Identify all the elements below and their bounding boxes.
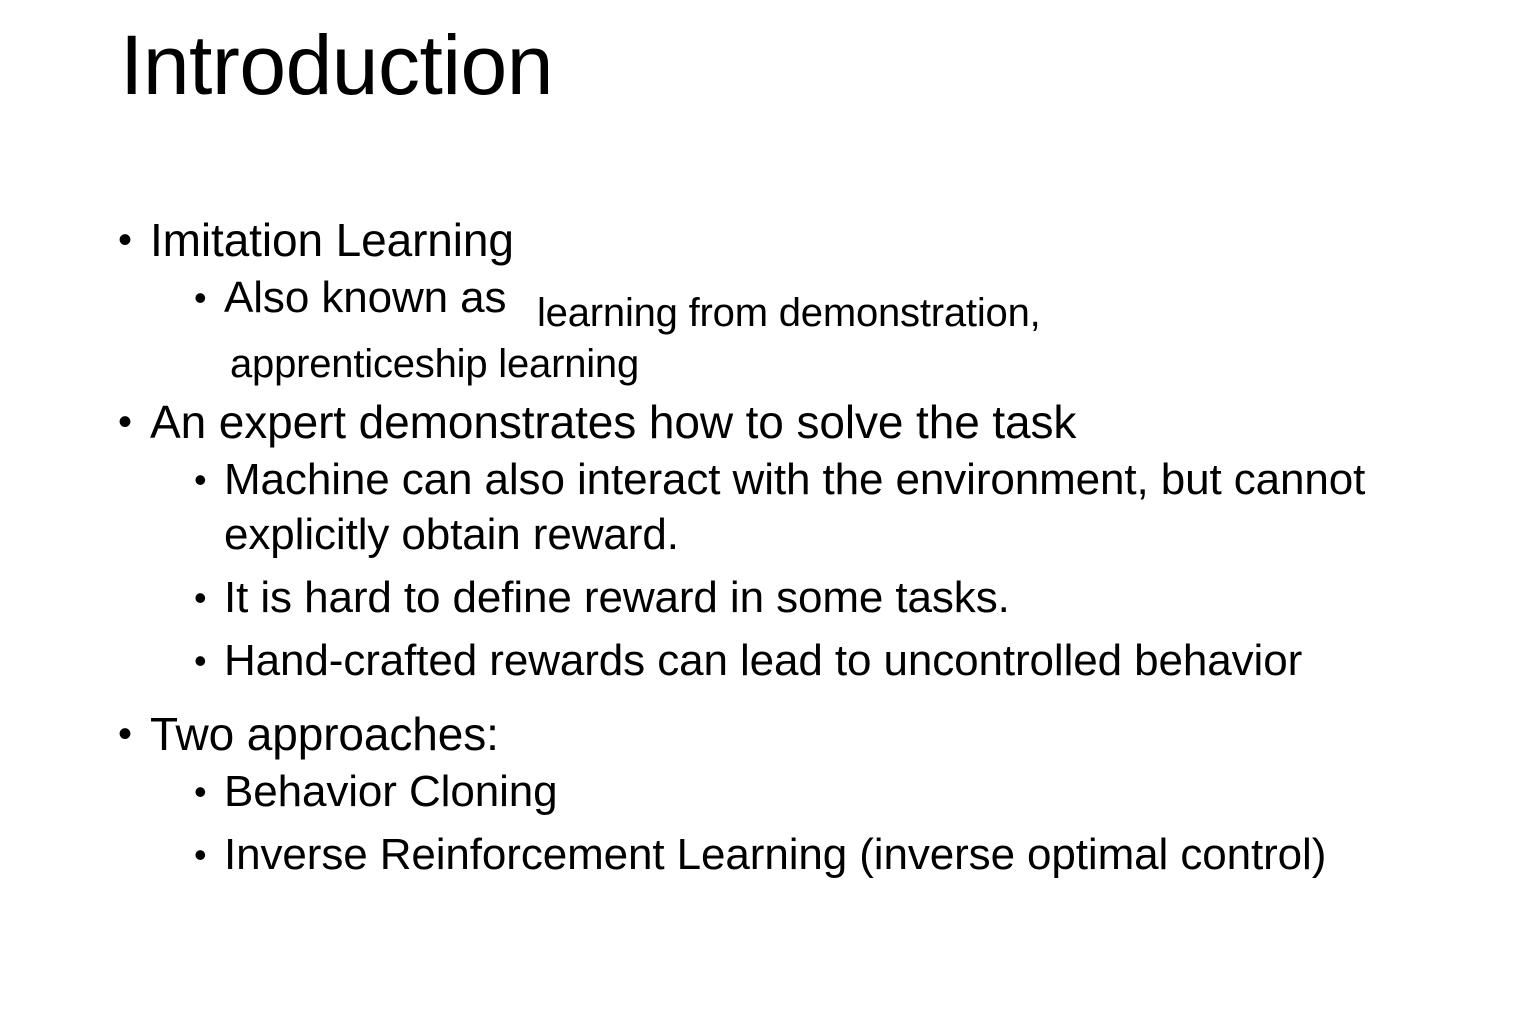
bullet-point-icon: • [118,212,150,268]
bullet-item-machine-interact: • Machine can also interact with the env… [194,452,1418,562]
bullet-label: Hand-crafted rewards can lead to uncontr… [224,633,1418,688]
spacer [118,819,1418,827]
bullet-item-hard-to-define-reward: • It is hard to define reward in some ta… [194,570,1418,625]
bullet-label: Machine can also interact with the envir… [224,452,1418,562]
bullet-item-inverse-reinforcement-learning: • Inverse Reinforcement Learning (invers… [194,827,1418,882]
bullet-item-behavior-cloning: • Behavior Cloning [194,764,1418,819]
overlay-line-2: apprenticeship learning [230,339,1177,390]
bullet-point-icon: • [194,452,224,507]
bullet-label: Imitation Learning [150,212,1418,268]
bullet-item-expert-demonstrates: • An expert demonstrates how to solve th… [118,394,1418,450]
bullet-point-icon: • [118,706,150,762]
bullet-point-icon: • [194,633,224,688]
bullet-point-icon: • [194,764,224,819]
bullet-point-icon: • [194,827,224,882]
spacer [118,688,1418,706]
slide-title: Introduction [120,20,553,111]
bullet-label: It is hard to define reward in some task… [224,570,1418,625]
bullet-item-two-approaches: • Two approaches: [118,706,1418,762]
bullet-point-icon: • [194,570,224,625]
bullet-item-imitation-learning: • Imitation Learning [118,212,1418,268]
bullet-label: An expert demonstrates how to solve the … [150,394,1418,450]
bullet-point-icon: • [194,270,224,325]
spacer [118,562,1418,570]
bullet-label: Inverse Reinforcement Learning (inverse … [224,827,1418,882]
bullet-item-hand-crafted-rewards: • Hand-crafted rewards can lead to uncon… [194,633,1418,688]
slide-canvas: Introduction • Imitation Learning • Also… [0,0,1518,1030]
overlay-textbox: learning from demonstration, apprentices… [537,288,1177,390]
overlay-line-1: learning from demonstration, [537,288,1177,339]
bullet-point-icon: • [118,394,150,450]
spacer [118,625,1418,633]
bullet-label: Two approaches: [150,706,1418,762]
bullet-label: Behavior Cloning [224,764,1418,819]
